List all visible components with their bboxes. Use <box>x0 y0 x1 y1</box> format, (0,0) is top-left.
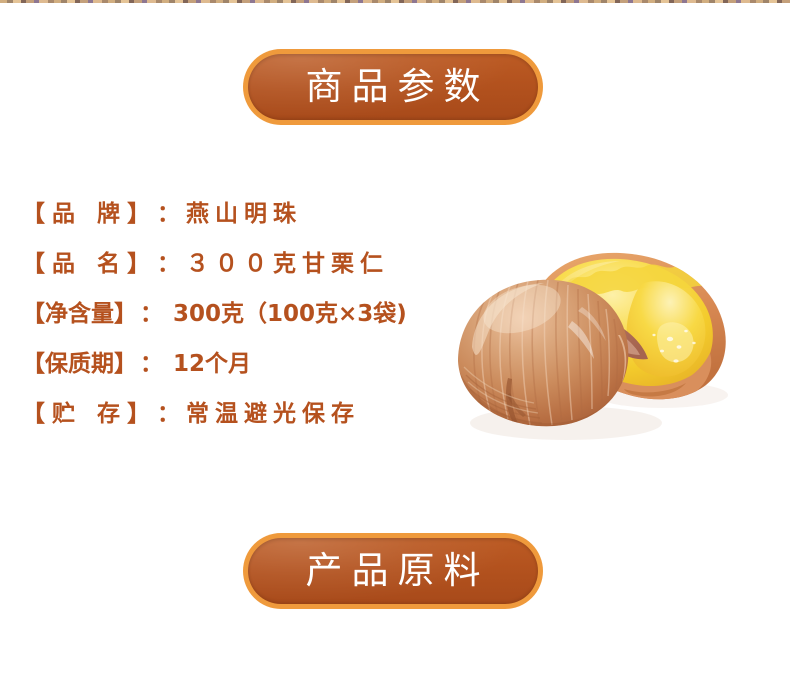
banner-inner-fill: 商品参数 <box>248 54 538 120</box>
spec-row-storage: 【贮 存】 ： 常温避光保存 <box>22 403 452 453</box>
specification-list: 【品 牌】 ： 燕山明珠 【品 名】 ： ３００克甘栗仁 【净含量】 ： 300… <box>22 203 452 453</box>
spec-label: 【品 牌】 <box>22 203 157 226</box>
banner-inner-fill: 产品原料 <box>248 538 538 604</box>
spec-row-net-weight: 【净含量】 ： 300克（100克×3袋) <box>22 303 452 353</box>
spec-colon: ： <box>137 353 173 376</box>
spec-value: 燕山明珠 <box>186 203 302 226</box>
spec-value: 常温避光保存 <box>186 403 360 426</box>
banner-title-text: 产品原料 <box>297 552 490 589</box>
spec-colon: ： <box>157 403 186 426</box>
spec-value: 12个月 <box>173 353 251 376</box>
chestnut-kernels-photo <box>448 243 748 448</box>
spec-label: 【保质期】 <box>22 353 137 376</box>
section-banner-product-ingredients: 产品原料 <box>243 533 543 609</box>
spec-row-brand: 【品 牌】 ： 燕山明珠 <box>22 203 452 253</box>
spec-value: 300克（100克×3袋) <box>173 303 407 326</box>
spec-value: ３００克甘栗仁 <box>186 253 389 276</box>
spec-row-shelf-life: 【保质期】 ： 12个月 <box>22 353 452 403</box>
spec-row-product-name: 【品 名】 ： ３００克甘栗仁 <box>22 253 452 303</box>
top-edge-seam <box>0 0 790 3</box>
spec-label: 【净含量】 <box>22 303 137 326</box>
spec-colon: ： <box>157 203 186 226</box>
section-banner-product-parameters: 商品参数 <box>243 49 543 125</box>
spec-label: 【贮 存】 <box>22 403 157 426</box>
spec-label: 【品 名】 <box>22 253 157 276</box>
product-detail-page: 商品参数 【品 牌】 ： 燕山明珠 【品 名】 ： ３００克甘栗仁 【净含量】 … <box>0 0 790 678</box>
banner-title-text: 商品参数 <box>297 68 490 105</box>
spec-colon: ： <box>157 253 186 276</box>
spec-colon: ： <box>137 303 173 326</box>
